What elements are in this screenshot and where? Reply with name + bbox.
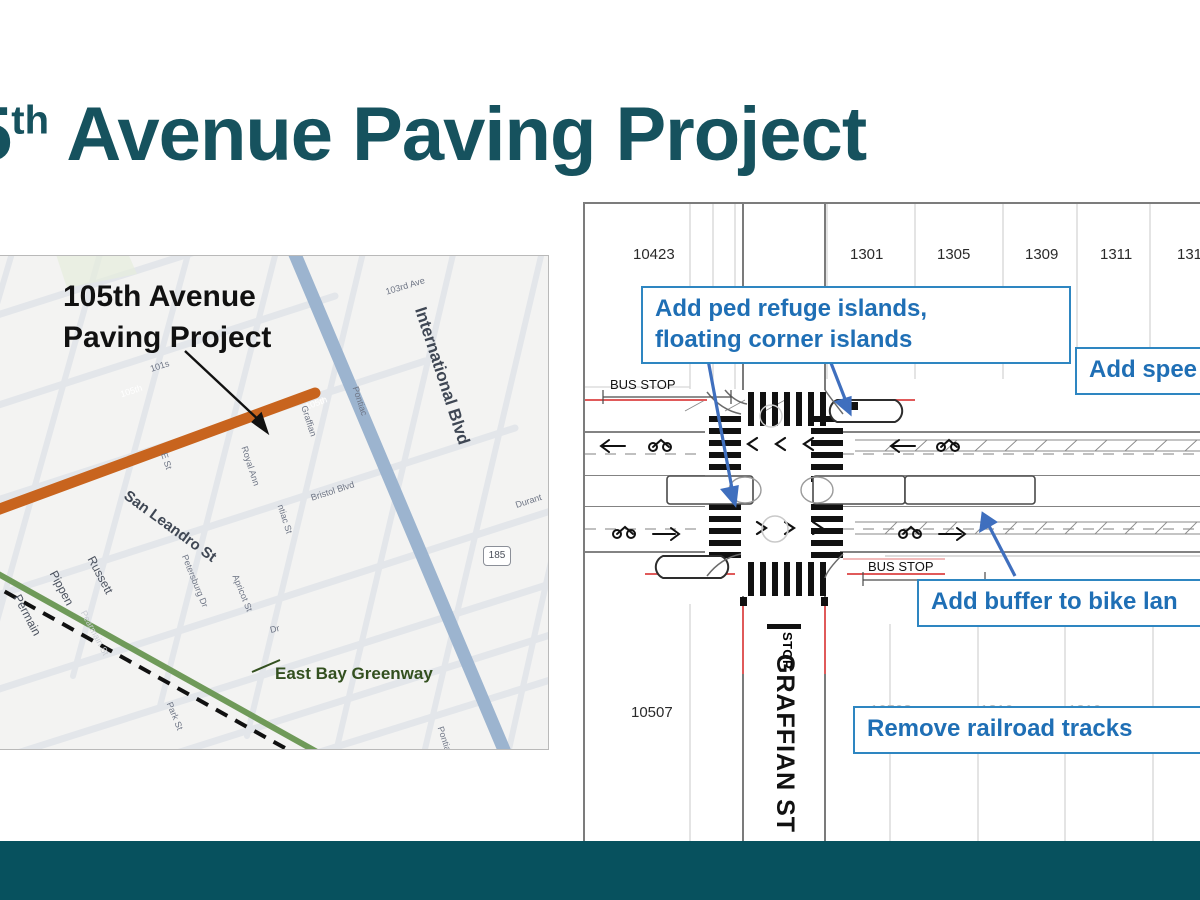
callout-line1: Add ped refuge islands, — [655, 294, 1059, 325]
parcel-number-1315: 131 — [1177, 246, 1200, 263]
callout-add-speed[interactable]: Add spee — [1075, 347, 1200, 395]
parcel-number-1309: 1309 — [1025, 246, 1058, 263]
parcel-number-10423: 10423 — [633, 246, 675, 263]
map-canvas: 105th Avenue Paving Project RT Esperanza… — [0, 256, 548, 749]
greenway-label: East Bay Greenway — [275, 664, 433, 684]
bus-stop-label-left: BUS STOP — [610, 377, 676, 392]
page-title-text: 5th Avenue Paving Project — [0, 92, 866, 177]
page-title: 5th Avenue Paving Project — [0, 95, 1030, 175]
parcel-number-10507: 10507 — [631, 704, 673, 721]
callout-line1: Add buffer to bike lan — [931, 587, 1200, 618]
callout-add-buffer-bike-lane[interactable]: Add buffer to bike lan — [917, 579, 1200, 627]
bus-stop-label-right: BUS STOP — [868, 559, 934, 574]
callout-remove-railroad-tracks[interactable]: Remove railroad tracks — [853, 706, 1200, 754]
callout-line2: floating corner islands — [655, 325, 1059, 356]
street-name-graffian-st: GRAFFIAN ST — [770, 654, 799, 833]
callout-line1: Add spee — [1089, 355, 1200, 386]
parcel-number-1305: 1305 — [937, 246, 970, 263]
parcel-number-1311: 1311 — [1100, 246, 1132, 263]
callout-ped-refuge-islands[interactable]: Add ped refuge islands, floating corner … — [641, 286, 1071, 364]
page-title-ordinal-suffix: th — [11, 99, 49, 143]
callout-line1: Remove railroad tracks — [867, 714, 1191, 745]
highway-shield-185: 185 — [483, 546, 511, 566]
location-map[interactable]: 105th Avenue Paving Project RT Esperanza… — [0, 255, 549, 750]
intersection-plan-drawing[interactable]: 10423 1301 1305 1309 1311 131 10507 1050… — [583, 202, 1200, 841]
footer-accent-bar — [0, 841, 1200, 900]
parcel-number-1301: 1301 — [850, 246, 883, 263]
map-title-line1: 105th Avenue — [63, 276, 271, 317]
map-title-line2: Paving Project — [63, 317, 271, 358]
map-title: 105th Avenue Paving Project — [63, 276, 271, 359]
